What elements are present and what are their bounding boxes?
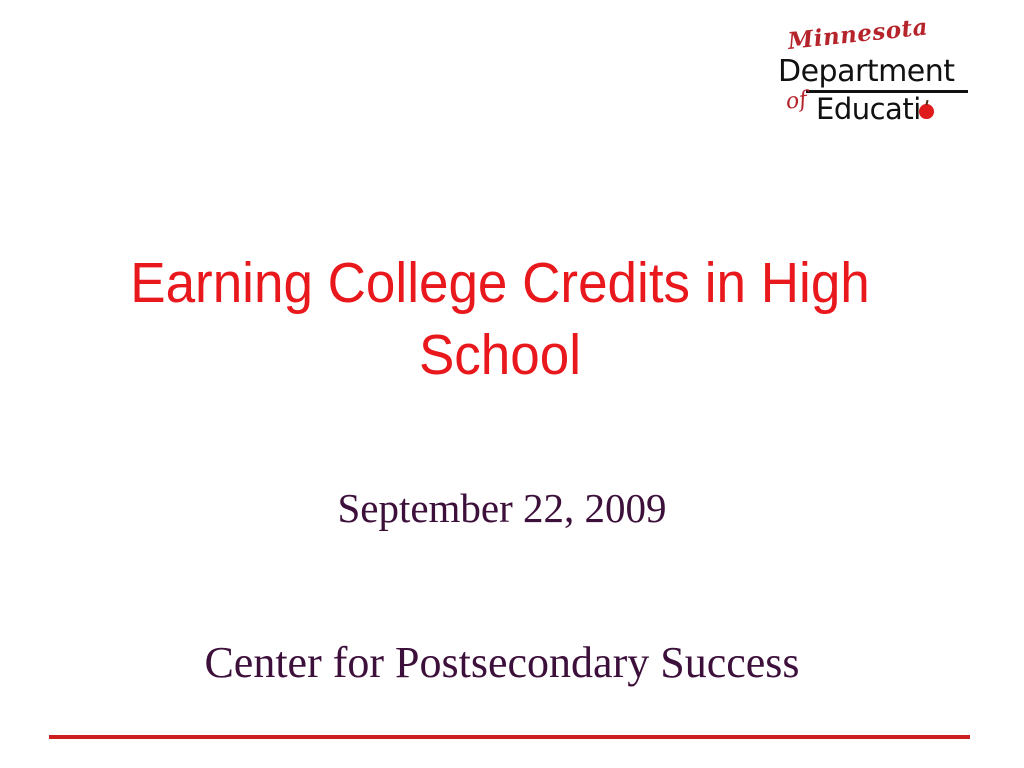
- logo-word-department: Department: [778, 54, 955, 89]
- footer-divider-rule: [49, 735, 970, 739]
- mde-logo: Minnesota Department of Educati: [778, 28, 968, 122]
- logo-word-of: of: [784, 87, 809, 115]
- slide-title: Earning College Credits in High School: [91, 248, 909, 392]
- logo-word-education: Educati: [816, 92, 921, 126]
- slide-organization: Center for Postsecondary Success: [62, 637, 942, 688]
- header-gradient-band: [45, 85, 760, 111]
- apple-icon: [919, 104, 934, 119]
- slide-canvas: Minnesota Department of Educati Earning …: [0, 0, 1024, 768]
- logo-script-minnesota: Minnesota: [787, 9, 969, 55]
- slide-date: September 22, 2009: [62, 484, 942, 532]
